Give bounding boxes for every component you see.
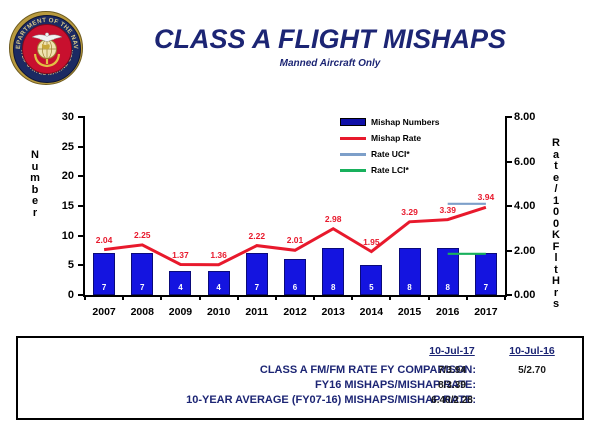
summary-table-value: 5/2.70: [496, 365, 568, 376]
legend-item: Rate UCI*: [340, 146, 440, 162]
x-tick-mark: [160, 295, 162, 300]
x-tick-mark: [389, 295, 391, 300]
summary-table-value: 6.40/2.28: [416, 395, 488, 406]
legend-swatch: [340, 169, 366, 172]
right-tick-mark: [505, 294, 512, 296]
x-tick-mark: [199, 295, 201, 300]
legend-label: Mishap Rate: [371, 133, 421, 143]
x-axis-year-label: 2017: [464, 306, 508, 318]
legend-item: Rate LCI*: [340, 162, 440, 178]
rate-value-label: 2.22: [245, 231, 269, 241]
x-tick-mark: [237, 295, 239, 300]
page-header: DEPARTMENT OF THE NAVY UNITED STATES MAR…: [0, 0, 600, 100]
x-tick-mark: [466, 295, 468, 300]
legend-item: Mishap Rate: [340, 130, 440, 146]
left-tick-mark: [78, 146, 85, 148]
legend-label: Rate LCI*: [371, 165, 409, 175]
x-tick-mark: [275, 295, 277, 300]
summary-table-value: 8/3.39: [416, 380, 488, 391]
rate-value-label: 1.95: [359, 237, 383, 247]
right-tick-mark: [505, 116, 512, 118]
x-axis: 2007200820092010201120122013201420152016…: [85, 295, 505, 326]
rate-value-label: 3.29: [398, 207, 422, 217]
summary-table: 10-Jul-1710-Jul-16 CLASS A FM/FM RATE FY…: [16, 336, 584, 420]
x-tick-mark: [351, 295, 353, 300]
x-tick-mark: [428, 295, 430, 300]
x-tick-mark: [84, 295, 86, 300]
left-tick-label: 15: [44, 201, 74, 211]
x-tick-mark: [313, 295, 315, 300]
page-title: CLASS A FLIGHT MISHAPS: [110, 24, 550, 55]
left-axis-title: Number: [26, 150, 44, 219]
mishaps-chart: Number Rate/100KFltHrs 051015202530 0.00…: [0, 104, 600, 326]
right-tick-label: 6.00: [514, 157, 550, 167]
summary-table-value: 7/3.94: [416, 365, 488, 376]
right-tick-label: 8.00: [514, 112, 550, 122]
left-tick-mark: [78, 264, 85, 266]
right-tick-mark: [505, 205, 512, 207]
rate-value-label: 1.37: [168, 250, 192, 260]
eagle-globe-anchor-icon: [22, 24, 72, 74]
left-tick-label: 25: [44, 142, 74, 152]
left-tick-label: 10: [44, 231, 74, 241]
left-tick-mark: [78, 116, 85, 118]
usmc-seal-icon: DEPARTMENT OF THE NAVY UNITED STATES MAR…: [9, 11, 83, 85]
legend-swatch: [340, 137, 366, 140]
rate-value-label: 2.25: [130, 230, 154, 240]
left-tick-label: 20: [44, 171, 74, 181]
legend-item: Mishap Numbers: [340, 114, 440, 130]
right-tick-label: 4.00: [514, 201, 550, 211]
right-tick-label: 2.00: [514, 246, 550, 256]
x-tick-mark: [122, 295, 124, 300]
left-tick-label: 0: [44, 290, 74, 300]
right-axis-title: Rate/100KFltHrs: [548, 138, 564, 311]
legend-label: Rate UCI*: [371, 149, 410, 159]
right-tick-label: 0.00: [514, 290, 550, 300]
summary-table-column-header: 10-Jul-17: [416, 345, 488, 357]
legend-swatch: [340, 118, 366, 126]
left-tick-mark: [78, 205, 85, 207]
left-tick-mark: [78, 175, 85, 177]
x-tick-mark: [504, 295, 506, 300]
summary-table-column-header: 10-Jul-16: [496, 345, 568, 357]
right-tick-mark: [505, 250, 512, 252]
rate-value-label: 3.39: [436, 205, 460, 215]
legend-swatch: [340, 153, 366, 156]
right-axis-line: [505, 117, 507, 297]
rate-value-label: 2.98: [321, 214, 345, 224]
left-tick-label: 30: [44, 112, 74, 122]
page-subtitle: Manned Aircraft Only: [110, 58, 550, 69]
rate-value-label: 2.04: [92, 235, 116, 245]
left-tick-label: 5: [44, 260, 74, 270]
left-tick-mark: [78, 235, 85, 237]
rate-value-label: 2.01: [283, 235, 307, 245]
rate-value-label: 3.94: [474, 192, 498, 202]
legend-label: Mishap Numbers: [371, 117, 440, 127]
rate-value-label: 1.36: [207, 250, 231, 260]
right-tick-mark: [505, 161, 512, 163]
chart-legend: Mishap NumbersMishap RateRate UCI*Rate L…: [340, 114, 440, 178]
